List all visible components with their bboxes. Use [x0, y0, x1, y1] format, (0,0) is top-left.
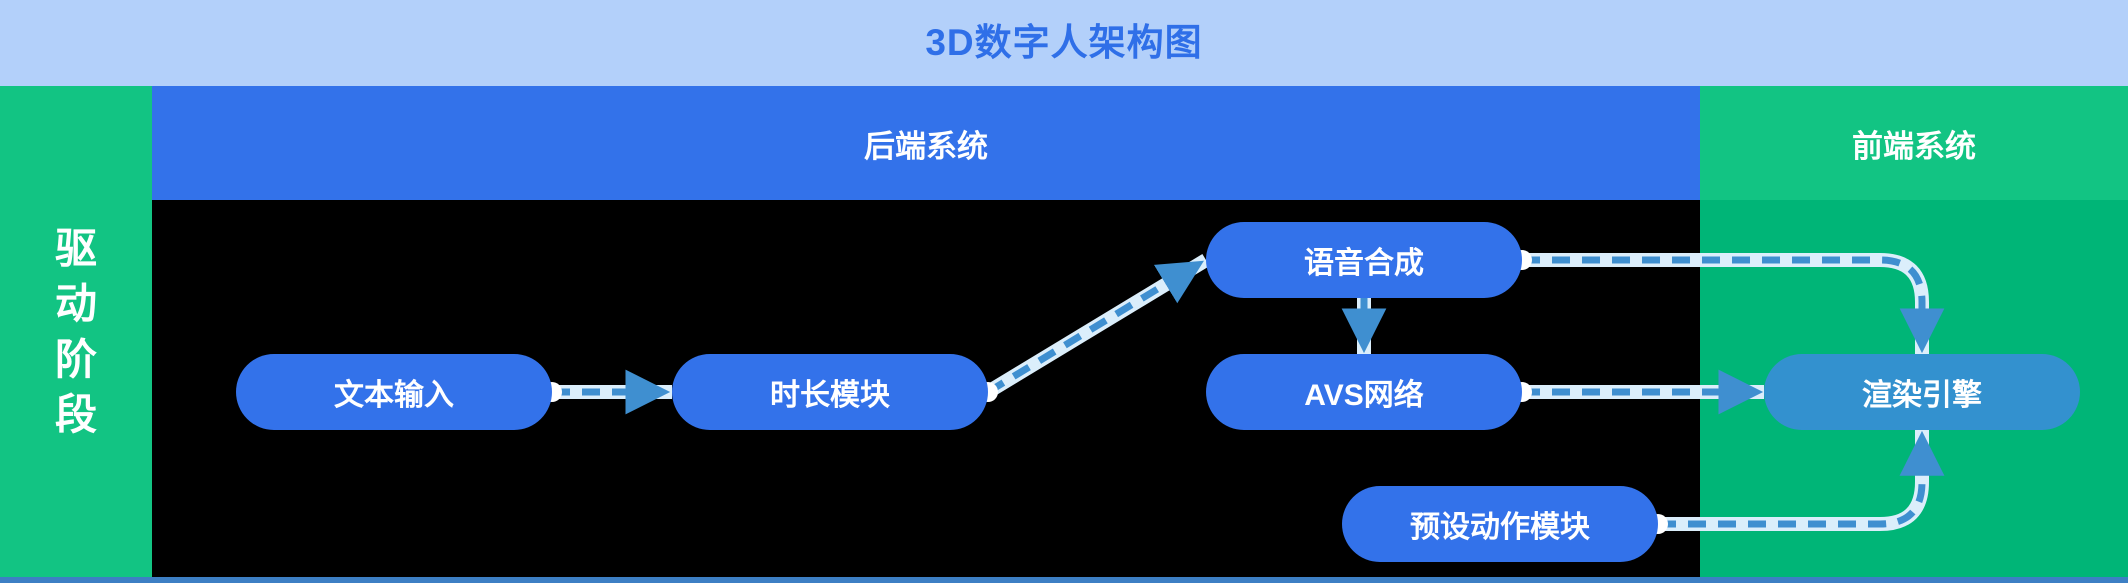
node-speech-synthesis-label: 语音合成 — [1304, 238, 1424, 282]
node-render-engine[interactable]: 渲染引擎 — [1764, 354, 2080, 430]
node-avs-network[interactable]: AVS网络 — [1206, 354, 1522, 430]
node-duration-module[interactable]: 时长模块 — [672, 354, 988, 430]
node-avs-network-label: AVS网络 — [1304, 370, 1423, 414]
lane-driving-stage-label: 驱 动 阶 段 — [0, 86, 152, 577]
lane-char-1: 驱 — [55, 221, 97, 276]
node-preset-motion-module[interactable]: 预设动作模块 — [1342, 486, 1658, 562]
bottom-strip — [0, 577, 2128, 583]
column-header-frontend: 前端系统 — [1700, 86, 2128, 200]
lane-char-4: 段 — [55, 387, 97, 442]
node-render-engine-label: 渲染引擎 — [1862, 370, 1982, 414]
node-preset-motion-module-label: 预设动作模块 — [1410, 502, 1590, 546]
diagram-canvas: 3D数字人架构图 驱 动 阶 段 后端系统 前端系统 — [0, 0, 2128, 583]
node-duration-module-label: 时长模块 — [770, 370, 890, 414]
column-header-frontend-label: 前端系统 — [1700, 86, 2128, 200]
column-header-backend: 后端系统 — [152, 86, 1700, 200]
node-text-input[interactable]: 文本输入 — [236, 354, 552, 430]
column-header-backend-label: 后端系统 — [152, 86, 1700, 200]
lane-char-2: 动 — [55, 276, 97, 331]
page-title: 3D数字人架构图 — [0, 0, 2128, 86]
node-text-input-label: 文本输入 — [334, 370, 454, 414]
lane-char-3: 阶 — [55, 332, 97, 387]
node-speech-synthesis[interactable]: 语音合成 — [1206, 222, 1522, 298]
